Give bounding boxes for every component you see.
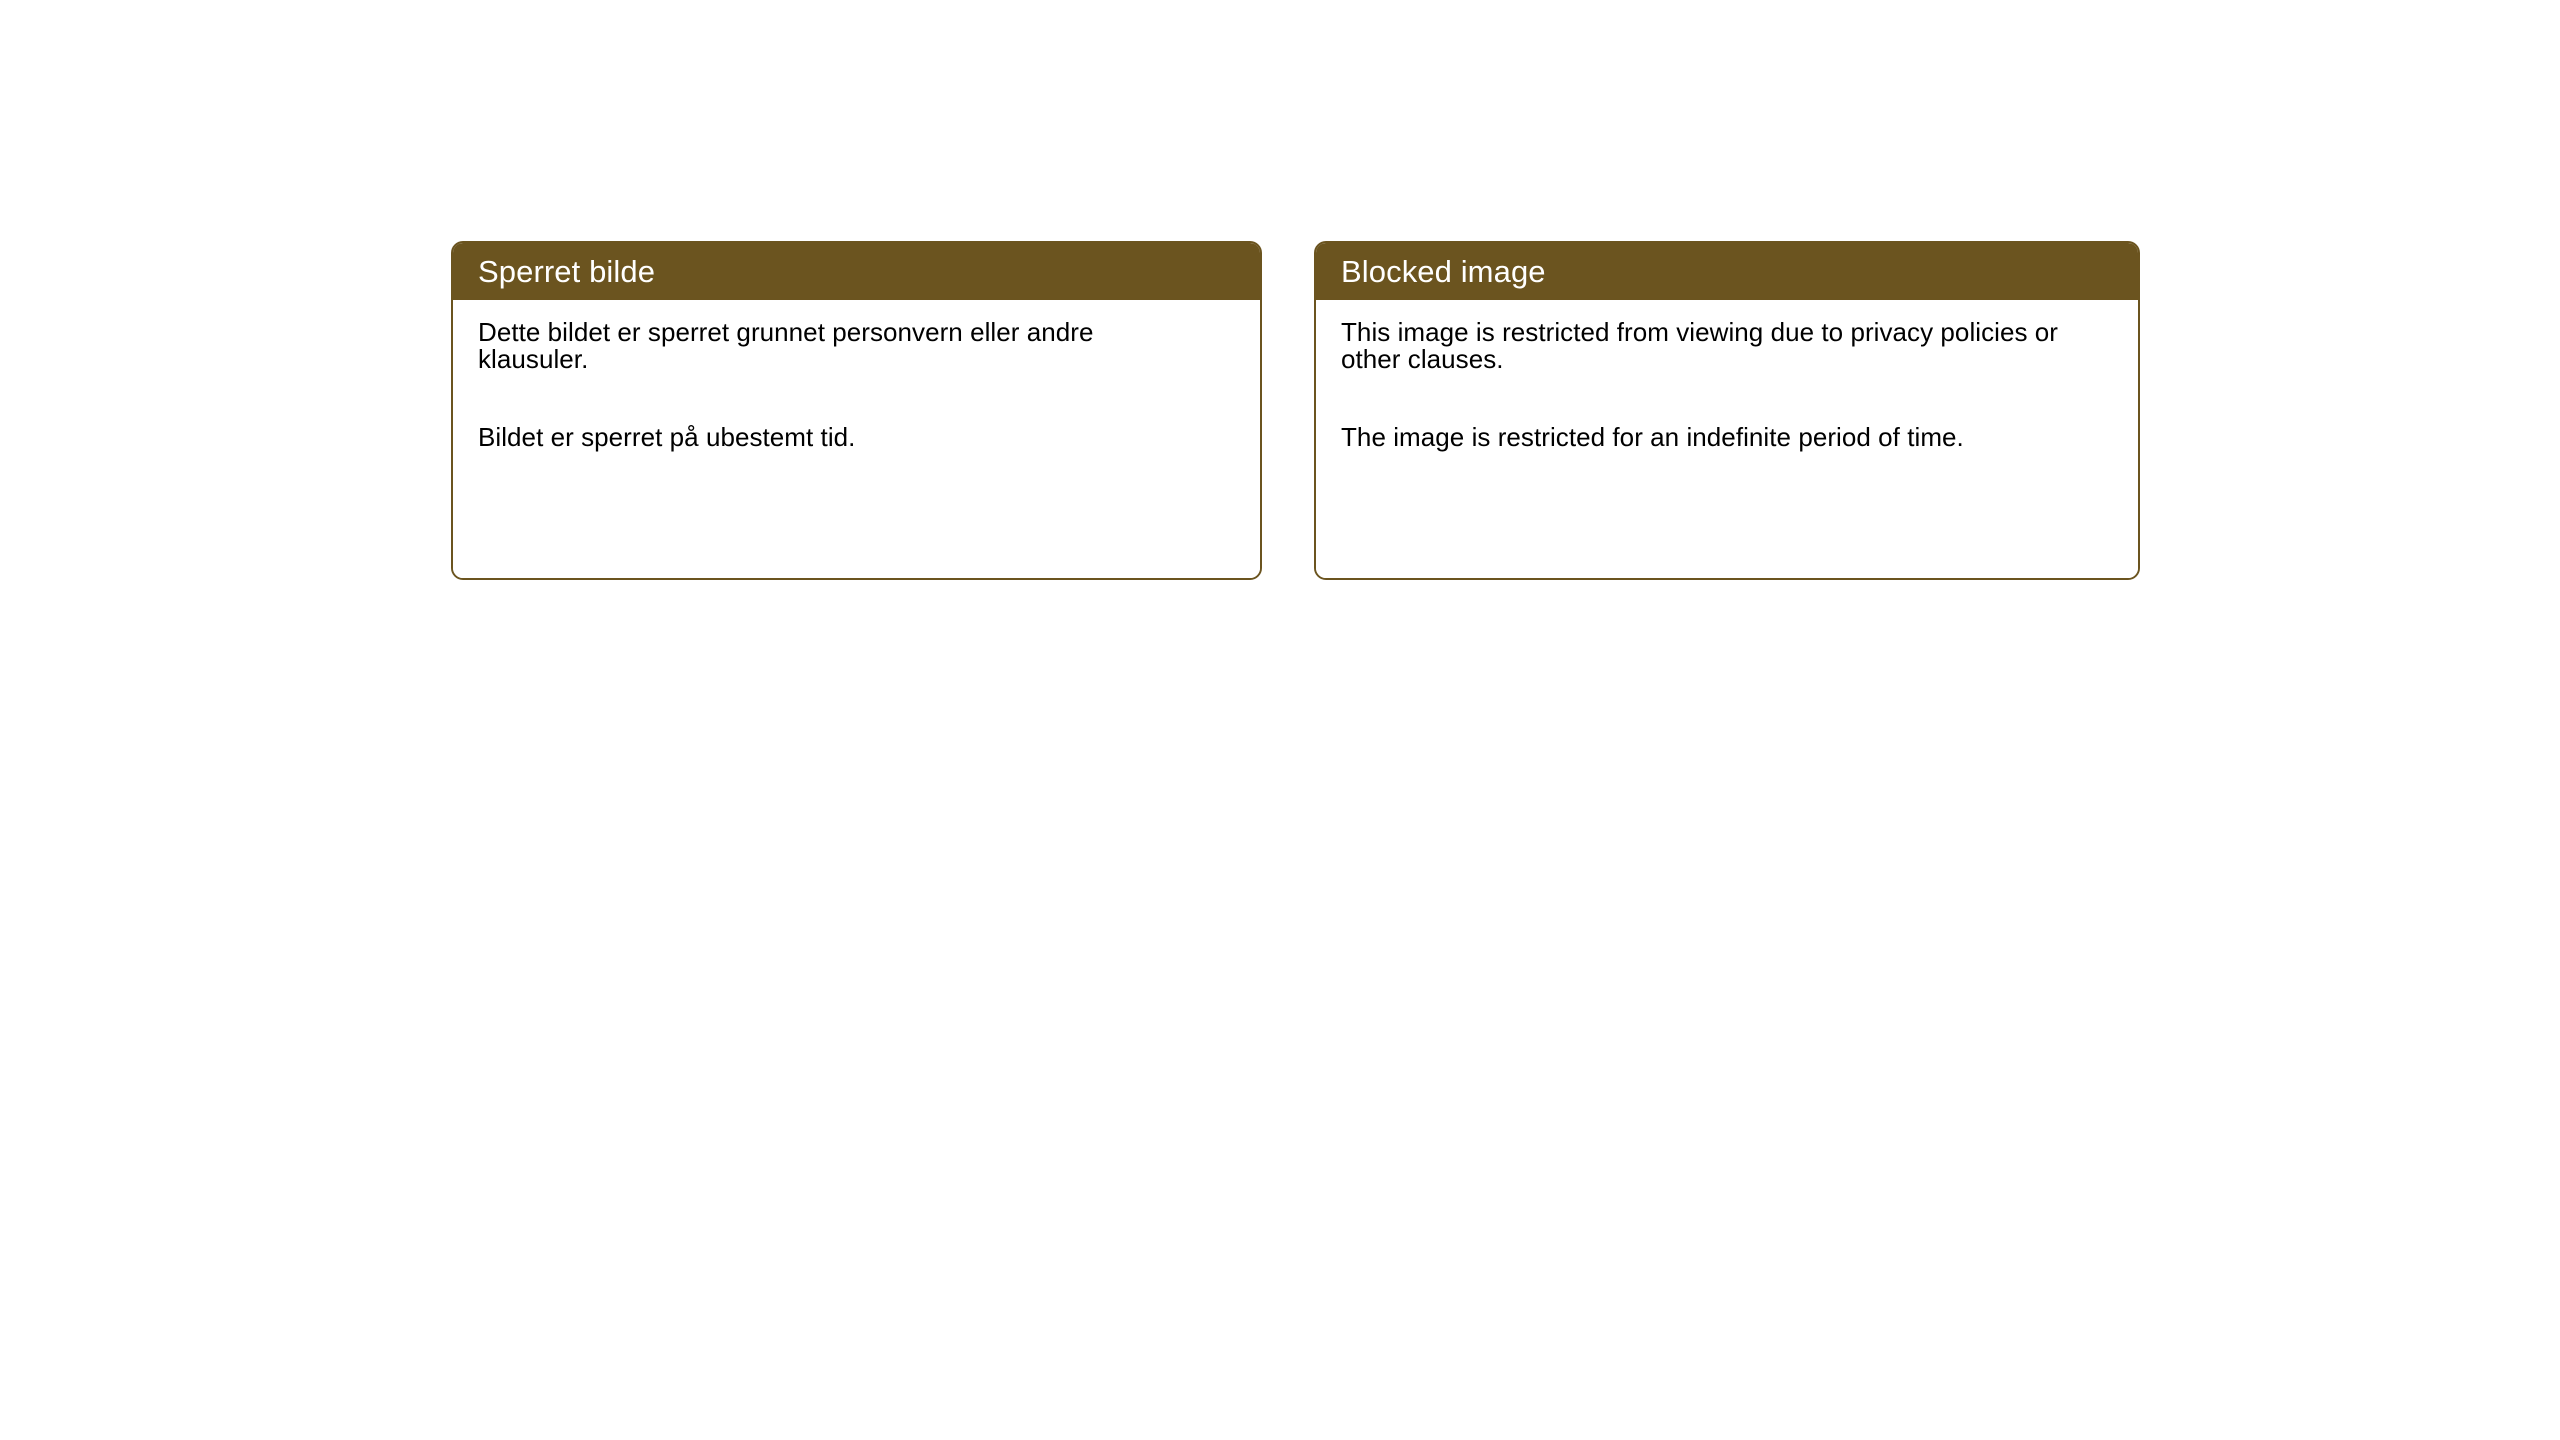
card-paragraph-reason-norwegian: Dette bildet er sperret grunnet personve…	[478, 319, 1178, 372]
blocked-image-notice-group: Sperret bilde Dette bildet er sperret gr…	[451, 241, 2140, 580]
page-root: Sperret bilde Dette bildet er sperret gr…	[0, 0, 2560, 1440]
card-paragraph-duration-english: The image is restricted for an indefinit…	[1341, 424, 2081, 451]
blocked-image-card-norwegian: Sperret bilde Dette bildet er sperret gr…	[451, 241, 1262, 580]
card-header-norwegian: Sperret bilde	[453, 243, 1260, 300]
card-header-english: Blocked image	[1316, 243, 2138, 300]
card-body-norwegian: Dette bildet er sperret grunnet personve…	[453, 300, 1260, 578]
card-paragraph-duration-norwegian: Bildet er sperret på ubestemt tid.	[478, 424, 1178, 451]
card-body-english: This image is restricted from viewing du…	[1316, 300, 2138, 578]
card-paragraph-reason-english: This image is restricted from viewing du…	[1341, 319, 2081, 372]
card-title-norwegian: Sperret bilde	[478, 256, 655, 287]
card-title-english: Blocked image	[1341, 256, 1546, 287]
blocked-image-card-english: Blocked image This image is restricted f…	[1314, 241, 2140, 580]
